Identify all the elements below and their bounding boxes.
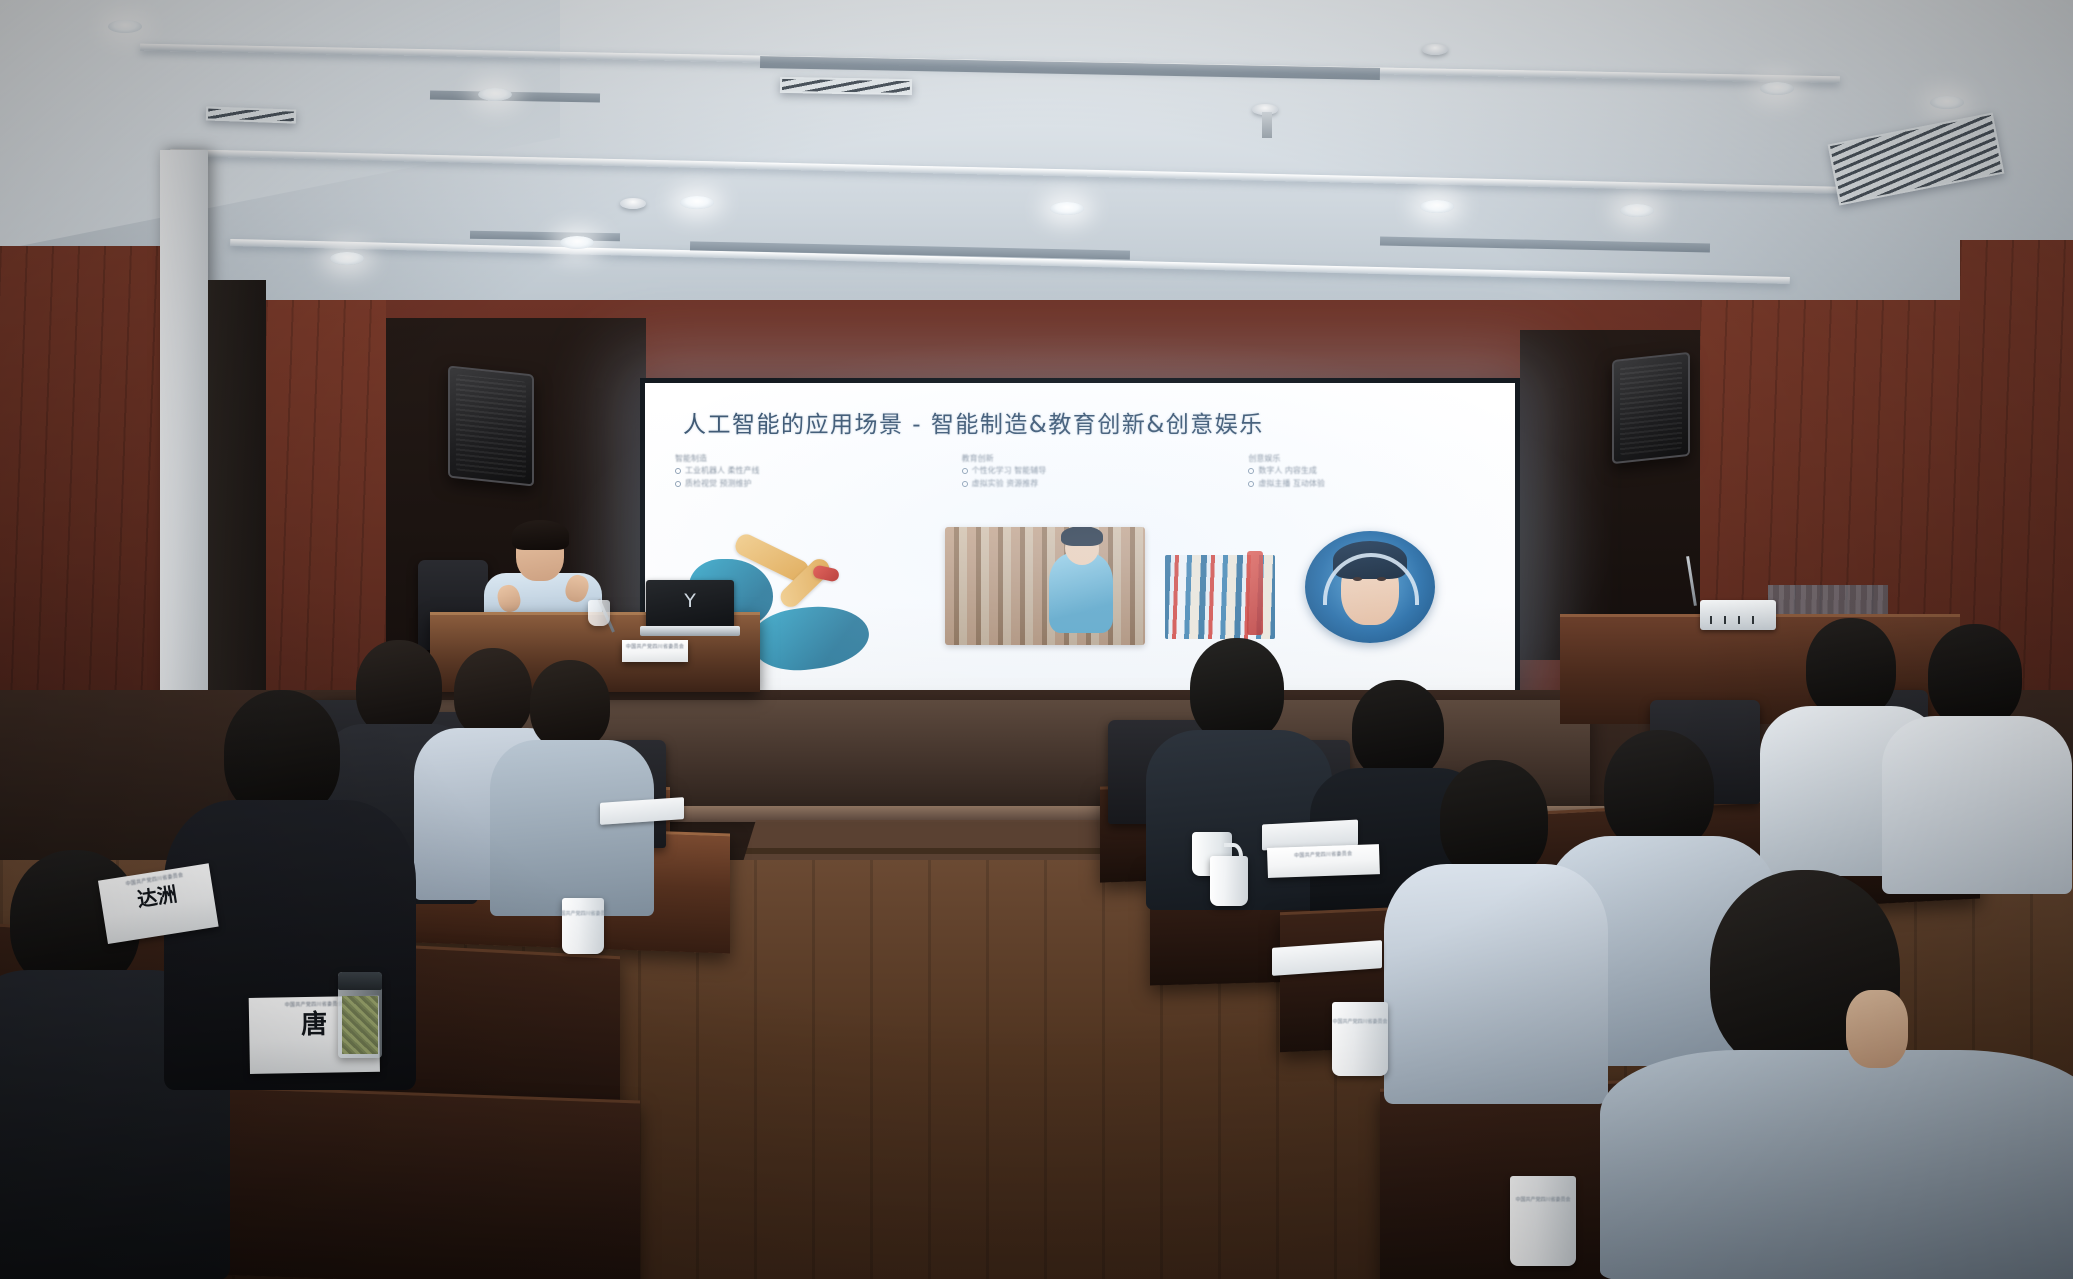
bullet-item: 工业机器人 柔性产线 — [675, 465, 932, 477]
air-conditioning-vent-center — [780, 77, 912, 95]
bullet-text: 工业机器人 柔性产线 — [685, 465, 760, 477]
bullet-text: 虚拟主播 互动体验 — [1258, 478, 1325, 490]
slide-columns: 智能制造 工业机器人 柔性产线 质检视觉 预测维护 教育创新 个性化学习 智能辅… — [675, 453, 1505, 490]
bullet-dot-icon — [675, 481, 681, 487]
tea-jar-lid — [338, 972, 382, 990]
presenter-water-glass — [588, 600, 610, 626]
nameplate-center: 中国共产党四川省委员会 — [1267, 844, 1380, 878]
paper-cup-right-3 — [1210, 856, 1248, 906]
student-figure — [1049, 553, 1113, 633]
bullet-dot-icon — [1248, 481, 1254, 487]
laptop-brand-logo: Y — [684, 592, 696, 611]
ceiling — [0, 0, 2073, 330]
bullet-text: 个性化学习 智能辅导 — [972, 465, 1047, 477]
person-head — [1604, 730, 1714, 852]
column-heading-manufacturing: 智能制造 — [675, 453, 932, 465]
bullet-item: 虚拟实验 资源推荐 — [962, 478, 1219, 490]
slide-column-entertainment: 创意娱乐 数字人 内容生成 虚拟主播 互动体验 — [1248, 453, 1505, 490]
column-heading-entertainment: 创意娱乐 — [1248, 453, 1505, 465]
person-hand-at-face — [1846, 990, 1908, 1068]
bullet-item: 个性化学习 智能辅导 — [962, 465, 1219, 477]
tea-jar-left — [338, 972, 382, 1058]
bullet-item: 质检视觉 预测维护 — [675, 478, 932, 490]
nameplate-name-text: 唐 — [301, 1012, 327, 1038]
laptop-keyboard-base[interactable] — [640, 626, 740, 636]
audience-person-right-foreground — [1640, 870, 2073, 1279]
nameplate-name-text: 达洲 — [136, 884, 179, 910]
bullet-text: 质检视觉 预测维护 — [685, 478, 752, 490]
air-conditioning-vent-right — [1828, 113, 2005, 206]
ai-digital-avatar-illustration — [1305, 531, 1435, 643]
person-head — [1190, 638, 1284, 742]
ceiling-pendant-microphone-1 — [1262, 112, 1272, 138]
person-head — [1440, 760, 1548, 880]
downlight-7 — [1760, 82, 1794, 95]
downlight-10 — [560, 236, 594, 249]
tea-leaves — [342, 996, 378, 1054]
person-body — [1384, 864, 1608, 1104]
presenter-nameplate-org: 中国共产党四川省委员会 — [626, 643, 684, 650]
slide-column-manufacturing: 智能制造 工业机器人 柔性产线 质检视觉 预测维护 — [675, 453, 932, 490]
bullet-dot-icon — [1248, 468, 1254, 474]
audience-person-right-2 — [1888, 624, 2058, 884]
paper-cup-right-2: 中国共产党四川省委员会 — [1510, 1176, 1576, 1266]
person-body — [1600, 1050, 2073, 1279]
column-heading-education: 教育创新 — [962, 453, 1219, 465]
person-head — [224, 690, 340, 818]
slide-title: 人工智能的应用场景 - 智能制造&教育创新&创意娱乐 — [683, 405, 1264, 439]
person-body — [490, 740, 654, 916]
audience-person-left-3 — [496, 660, 646, 910]
wall-speaker-right — [1612, 352, 1690, 464]
cup-logo-text: 中国共产党四川省委员会 — [1515, 1196, 1570, 1203]
person-head — [530, 660, 610, 750]
nameplate-org-text: 中国共产党四川省委员会 — [285, 1000, 343, 1008]
slide-artwork-row — [645, 533, 1515, 693]
paper-cup-right-1: 中国共产党四川省委员会 — [1332, 1002, 1388, 1076]
presentation-screen: 人工智能的应用场景 - 智能制造&教育创新&创意娱乐 智能制造 工业机器人 柔性… — [640, 378, 1520, 698]
person-head — [1806, 618, 1896, 718]
cup-logo-text: 中国共产党四川省委员会 — [555, 910, 610, 917]
downlight-6 — [1620, 204, 1654, 217]
presenter-hair — [512, 520, 569, 550]
presenter-nameplate: 中国共产党四川省委员会 — [622, 640, 688, 662]
presenter-laptop[interactable]: Y — [640, 580, 736, 642]
nameplate-org-text: 中国共产党四川省委员会 — [1294, 850, 1353, 859]
ceiling-soffit-left — [0, 0, 560, 250]
bullet-dot-icon — [675, 468, 681, 474]
laptop-screen: Y — [646, 580, 734, 628]
audience-person-right-4 — [1400, 760, 1590, 1100]
downlight-1 — [108, 20, 142, 33]
downlight-9 — [330, 252, 364, 265]
person-head — [1928, 624, 2022, 728]
slide-column-education: 教育创新 个性化学习 智能辅导 虚拟实验 资源推荐 — [962, 453, 1219, 490]
slide: 人工智能的应用场景 - 智能制造&教育创新&创意娱乐 智能制造 工业机器人 柔性… — [645, 383, 1515, 693]
ceiling-light-slot-5 — [1380, 237, 1710, 253]
ceiling-light-slot-3 — [470, 231, 620, 242]
bullet-text: 虚拟实验 资源推荐 — [972, 478, 1039, 490]
bullet-item: 虚拟主播 互动体验 — [1248, 478, 1505, 490]
bullet-dot-icon — [962, 481, 968, 487]
bullet-item: 数字人 内容生成 — [1248, 465, 1505, 477]
library-study-photo — [945, 527, 1145, 645]
person-body — [1882, 716, 2072, 894]
smoke-detector-2 — [1422, 44, 1448, 55]
downlight-4 — [1050, 202, 1084, 215]
red-accent-shape — [1247, 551, 1263, 635]
bullet-text: 数字人 内容生成 — [1258, 465, 1317, 477]
ceiling-cove-2 — [170, 149, 1850, 194]
downlight-2 — [478, 88, 512, 101]
smoke-detector-3 — [620, 198, 646, 209]
paper-cup-left-1: 中国共产党四川省委员会 — [562, 898, 604, 954]
downlight-8 — [1930, 96, 1964, 109]
conference-room-photo: 人工智能的应用场景 - 智能制造&教育创新&创意娱乐 智能制造 工业机器人 柔性… — [0, 0, 2073, 1279]
conference-microphone-unit[interactable] — [1700, 600, 1776, 630]
wall-speaker-left — [448, 365, 534, 486]
downlight-3 — [680, 196, 714, 209]
bullet-dot-icon — [962, 468, 968, 474]
downlight-5 — [1420, 200, 1454, 213]
ceiling-light-slot-1 — [760, 56, 1380, 80]
cup-logo-text: 中国共产党四川省委员会 — [1332, 1018, 1387, 1025]
